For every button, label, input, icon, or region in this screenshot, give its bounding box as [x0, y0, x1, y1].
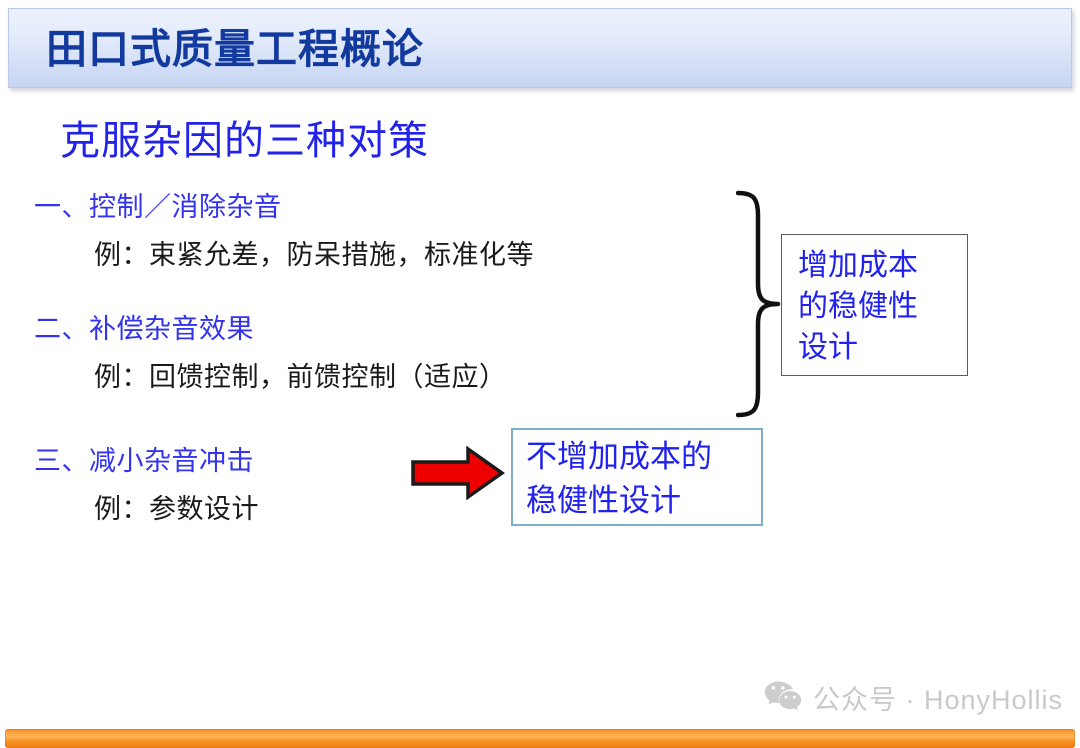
callout-box-no-cost: 不增加成本的 稳健性设计 — [511, 428, 763, 526]
callout-line: 不增加成本的 — [526, 435, 712, 479]
callout-box-cost-increase-text: 增加成本 的稳健性 设计 — [798, 245, 918, 368]
slide-canvas: 田口式质量工程概论 克服杂因的三种对策 一、控制／消除杂音 例：束紧允差，防呆措… — [0, 0, 1080, 748]
curly-brace-icon — [736, 190, 782, 418]
callout-box-cost-increase: 增加成本 的稳健性 设计 — [781, 234, 968, 376]
callout-line: 增加成本 — [798, 245, 918, 286]
callout-line: 的稳健性 — [798, 286, 918, 327]
slide-title-bar: 田口式质量工程概论 — [8, 8, 1072, 88]
list-item-heading: 二、补偿杂音效果 — [34, 310, 507, 348]
list-item: 二、补偿杂音效果 例：回馈控制，前馈控制（适应） — [34, 310, 507, 396]
list-item: 三、减小杂音冲击 例：参数设计 — [34, 442, 259, 528]
watermark-label: 公众号 · HonyHollis — [813, 678, 1063, 717]
bottom-accent-bar — [5, 729, 1075, 748]
callout-box-no-cost-text: 不增加成本的 稳健性设计 — [526, 435, 712, 523]
list-item-example: 例：回馈控制，前馈控制（适应） — [94, 358, 507, 396]
list-item-example: 例：参数设计 — [94, 490, 259, 528]
callout-line: 稳健性设计 — [526, 479, 712, 523]
red-arrow-icon — [410, 446, 505, 500]
footer-watermark: 公众号 · HonyHollis — [764, 678, 1063, 717]
callout-line: 设计 — [798, 327, 918, 368]
list-item: 一、控制／消除杂音 例：束紧允差，防呆措施，标准化等 — [34, 188, 534, 274]
list-item-heading: 一、控制／消除杂音 — [34, 188, 534, 226]
slide-subtitle: 克服杂因的三种对策 — [60, 112, 429, 170]
page-title: 田口式质量工程概论 — [46, 22, 424, 76]
wechat-icon — [764, 680, 802, 715]
list-item-heading: 三、减小杂音冲击 — [34, 442, 259, 480]
list-item-example: 例：束紧允差，防呆措施，标准化等 — [94, 236, 534, 274]
